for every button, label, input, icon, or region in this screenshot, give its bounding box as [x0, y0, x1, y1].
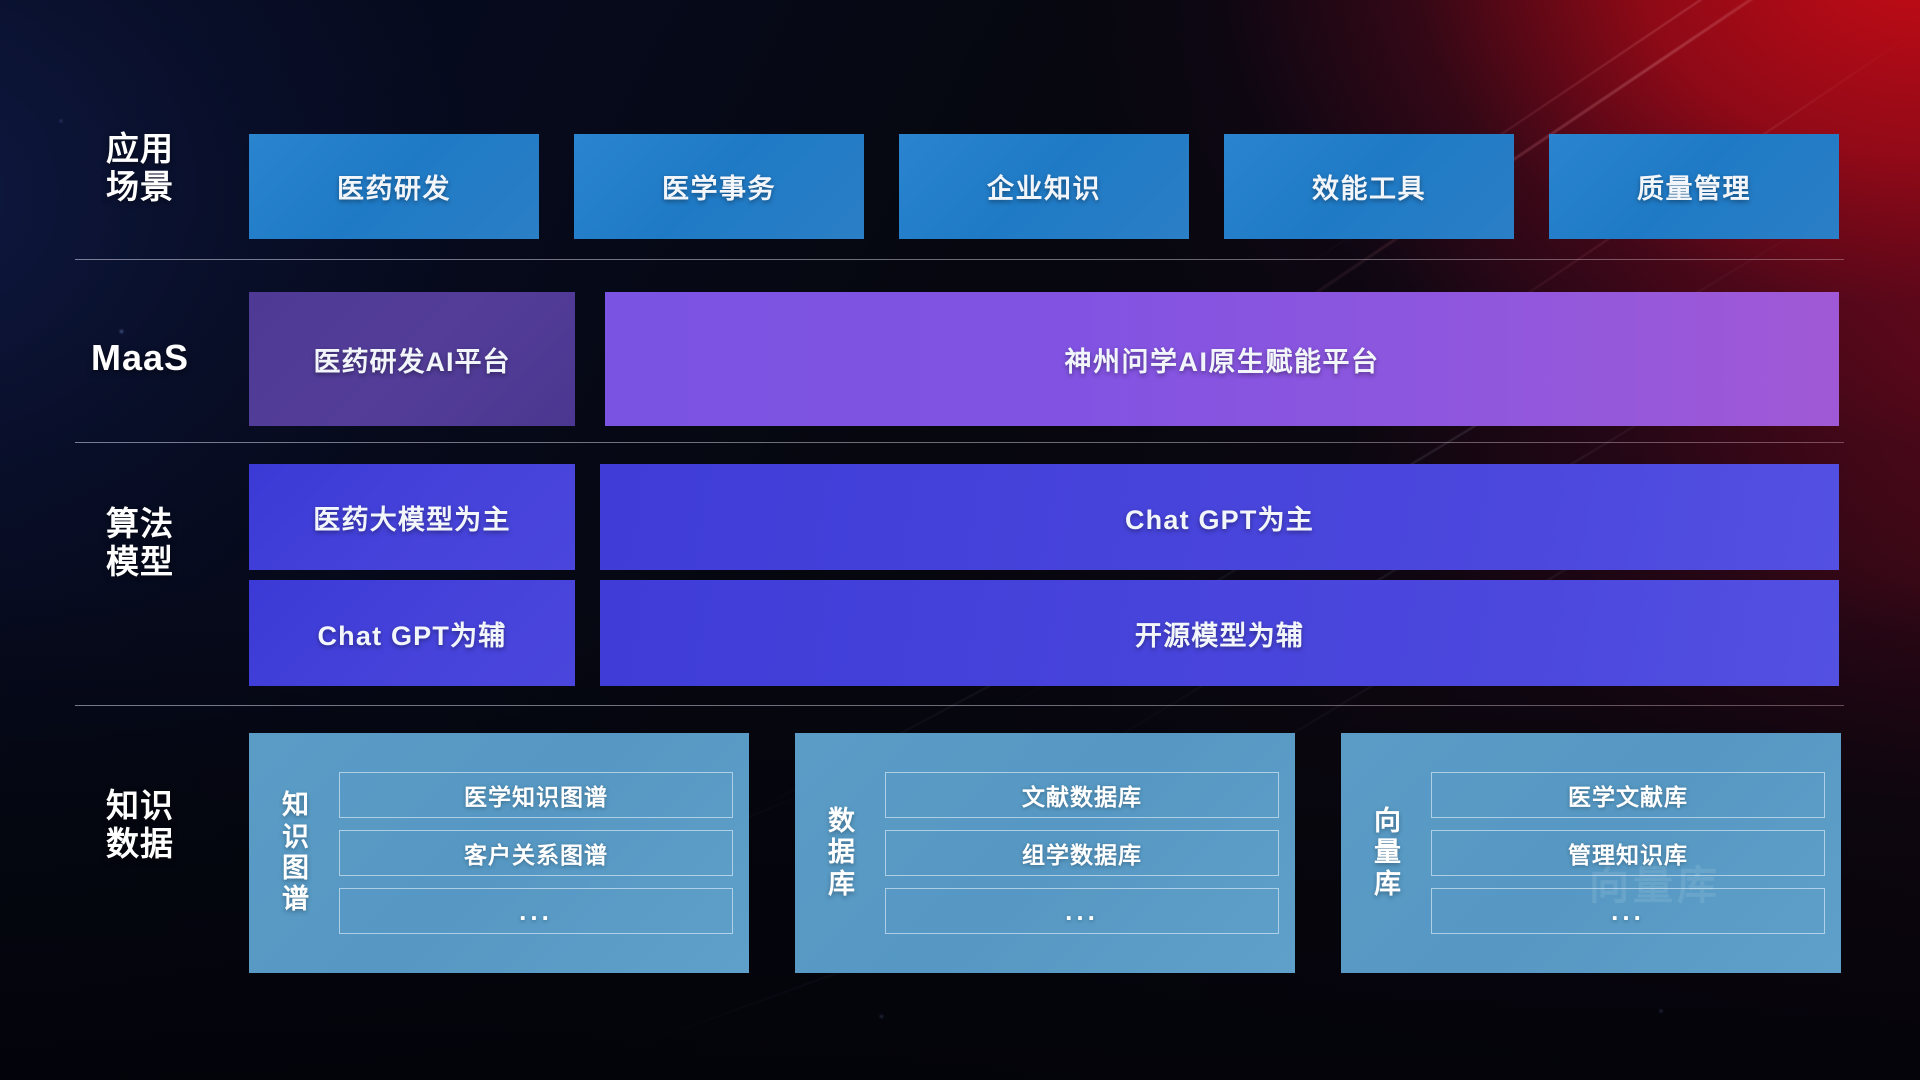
knowledge-item-more[interactable]: ...	[885, 888, 1279, 934]
knowledge-panel-vector-store-items: 医学文献库 管理知识库 ...	[1417, 772, 1825, 934]
knowledge-item[interactable]: 文献数据库	[885, 772, 1279, 818]
label-char: 知	[267, 790, 325, 821]
knowledge-item[interactable]: 客户关系图谱	[339, 830, 733, 876]
knowledge-panel-vector-store[interactable]: 向 量 库 医学文献库 管理知识库 ... 向量库	[1341, 733, 1841, 973]
knowledge-panel-database[interactable]: 数 据 库 文献数据库 组学数据库 ...	[795, 733, 1295, 973]
row-label-algorithm: 算法 模型	[75, 505, 205, 582]
row-label-algorithm-line1: 算法	[75, 505, 205, 543]
knowledge-item[interactable]: 管理知识库	[1431, 830, 1825, 876]
knowledge-item[interactable]: 组学数据库	[885, 830, 1279, 876]
divider-application	[75, 259, 1844, 260]
row-label-knowledge: 知识 数据	[75, 787, 205, 864]
app-box-enterprise-knowledge[interactable]: 企业知识	[899, 134, 1189, 239]
knowledge-panel-database-items: 文献数据库 组学数据库 ...	[871, 772, 1279, 934]
row-label-application-line2: 场景	[75, 168, 205, 206]
row-label-application-line1: 应用	[75, 130, 205, 168]
row-label-algorithm-line2: 模型	[75, 543, 205, 581]
label-char: 量	[1359, 837, 1417, 868]
algo-box-chatgpt-primary[interactable]: Chat GPT为主	[600, 464, 1839, 570]
app-box-efficiency-tools[interactable]: 效能工具	[1224, 134, 1514, 239]
algo-box-opensource-secondary[interactable]: 开源模型为辅	[600, 580, 1839, 686]
row-label-knowledge-line1: 知识	[75, 787, 205, 825]
knowledge-panel-graph-items: 医学知识图谱 客户关系图谱 ...	[325, 772, 733, 934]
divider-algorithm	[75, 705, 1844, 706]
label-char: 图	[267, 853, 325, 884]
divider-maas	[75, 442, 1844, 443]
maas-box-pharma-ai-platform[interactable]: 医药研发AI平台	[249, 292, 575, 426]
label-char: 向	[1359, 806, 1417, 837]
app-box-pharma-rnd[interactable]: 医药研发	[249, 134, 539, 239]
knowledge-item-more[interactable]: ...	[339, 888, 733, 934]
maas-box-shenzhou-wenxue-platform[interactable]: 神州问学AI原生赋能平台	[605, 292, 1839, 426]
label-char: 库	[813, 869, 871, 900]
label-char: 谱	[267, 884, 325, 915]
app-box-medical-affairs[interactable]: 医学事务	[574, 134, 864, 239]
algo-box-chatgpt-secondary[interactable]: Chat GPT为辅	[249, 580, 575, 686]
label-char: 数	[813, 806, 871, 837]
knowledge-panel-graph[interactable]: 知 识 图 谱 医学知识图谱 客户关系图谱 ...	[249, 733, 749, 973]
row-label-knowledge-line2: 数据	[75, 825, 205, 863]
row-label-application: 应用 场景	[75, 130, 205, 207]
knowledge-panel-database-label: 数 据 库	[813, 806, 871, 900]
knowledge-panel-graph-label: 知 识 图 谱	[267, 790, 325, 915]
label-char: 库	[1359, 869, 1417, 900]
knowledge-item-more[interactable]: ...	[1431, 888, 1825, 934]
app-box-quality-management[interactable]: 质量管理	[1549, 134, 1839, 239]
label-char: 识	[267, 822, 325, 853]
row-label-maas: MaaS	[75, 337, 205, 379]
knowledge-item[interactable]: 医学文献库	[1431, 772, 1825, 818]
label-char: 据	[813, 837, 871, 868]
knowledge-panel-vector-store-label: 向 量 库	[1359, 806, 1417, 900]
knowledge-item[interactable]: 医学知识图谱	[339, 772, 733, 818]
algo-box-pharma-llm-primary[interactable]: 医药大模型为主	[249, 464, 575, 570]
